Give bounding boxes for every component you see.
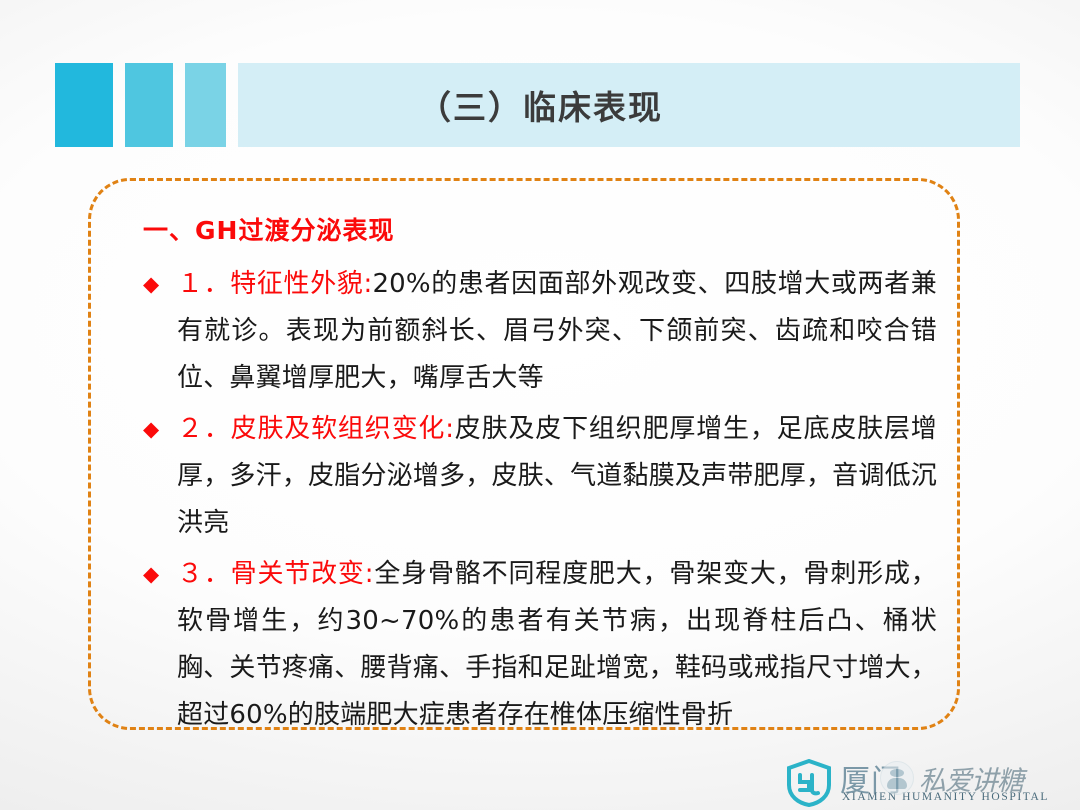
list-item-lead: １．特征性外貌: [177, 269, 372, 299]
header-accent-block-3 [185, 63, 226, 147]
logo-name-en: XIAMEN HUMANITY HOSPITAL [842, 791, 1049, 803]
header-gap-3 [226, 63, 238, 147]
diamond-bullet-icon: ◆ [143, 261, 177, 308]
list-item-lead: ２．皮肤及软组织变化: [177, 414, 454, 444]
header-title-bar: （三）临床表现 [238, 63, 1020, 147]
list-item-text: ２．皮肤及软组织变化:皮肤及皮下组织肥厚增生，足底皮肤层增厚，多汗，皮脂分泌增多… [177, 406, 937, 547]
shield-icon [786, 759, 832, 807]
list-item: ◆ １．特征性外貌:20%的患者因面部外观改变、四肢增大或两者兼有就诊。表现为前… [143, 261, 937, 402]
list-item-text: ３．骨关节改变:全身骨骼不同程度肥大，骨架变大，骨刺形成，软骨增生，约30~70… [177, 551, 937, 739]
diamond-bullet-icon: ◆ [143, 551, 177, 598]
hospital-logo: 厦门 XIAMEN HUMANITY HOSPITAL [786, 757, 1076, 809]
slide-canvas: （三）临床表现 一、GH过渡分泌表现 ◆ １．特征性外貌:20%的患者因面部外观… [0, 0, 1080, 810]
list-item: ◆ ３．骨关节改变:全身骨骼不同程度肥大，骨架变大，骨刺形成，软骨增生，约30~… [143, 551, 937, 739]
list-item: ◆ ２．皮肤及软组织变化:皮肤及皮下组织肥厚增生，足底皮肤层增厚，多汗，皮脂分泌… [143, 406, 937, 547]
content-panel: 一、GH过渡分泌表现 ◆ １．特征性外貌:20%的患者因面部外观改变、四肢增大或… [88, 178, 960, 730]
list-item-text: １．特征性外貌:20%的患者因面部外观改变、四肢增大或两者兼有就诊。表现为前额斜… [177, 261, 937, 402]
header-gap-2 [173, 63, 185, 147]
list-item-lead: ３．骨关节改变: [177, 559, 374, 589]
logo-wordmark: 厦门 XIAMEN HUMANITY HOSPITAL [840, 758, 1072, 808]
header-accent-block-1 [55, 63, 113, 147]
header-accent-block-2 [125, 63, 173, 147]
header-gap-1 [113, 63, 125, 147]
slide-header: （三）临床表现 [55, 63, 1020, 147]
content-body: 一、GH过渡分泌表现 ◆ １．特征性外貌:20%的患者因面部外观改变、四肢增大或… [143, 211, 937, 743]
diamond-bullet-icon: ◆ [143, 406, 177, 453]
page-title: （三）临床表现 [418, 81, 663, 129]
section-heading: 一、GH过渡分泌表现 [143, 211, 937, 247]
